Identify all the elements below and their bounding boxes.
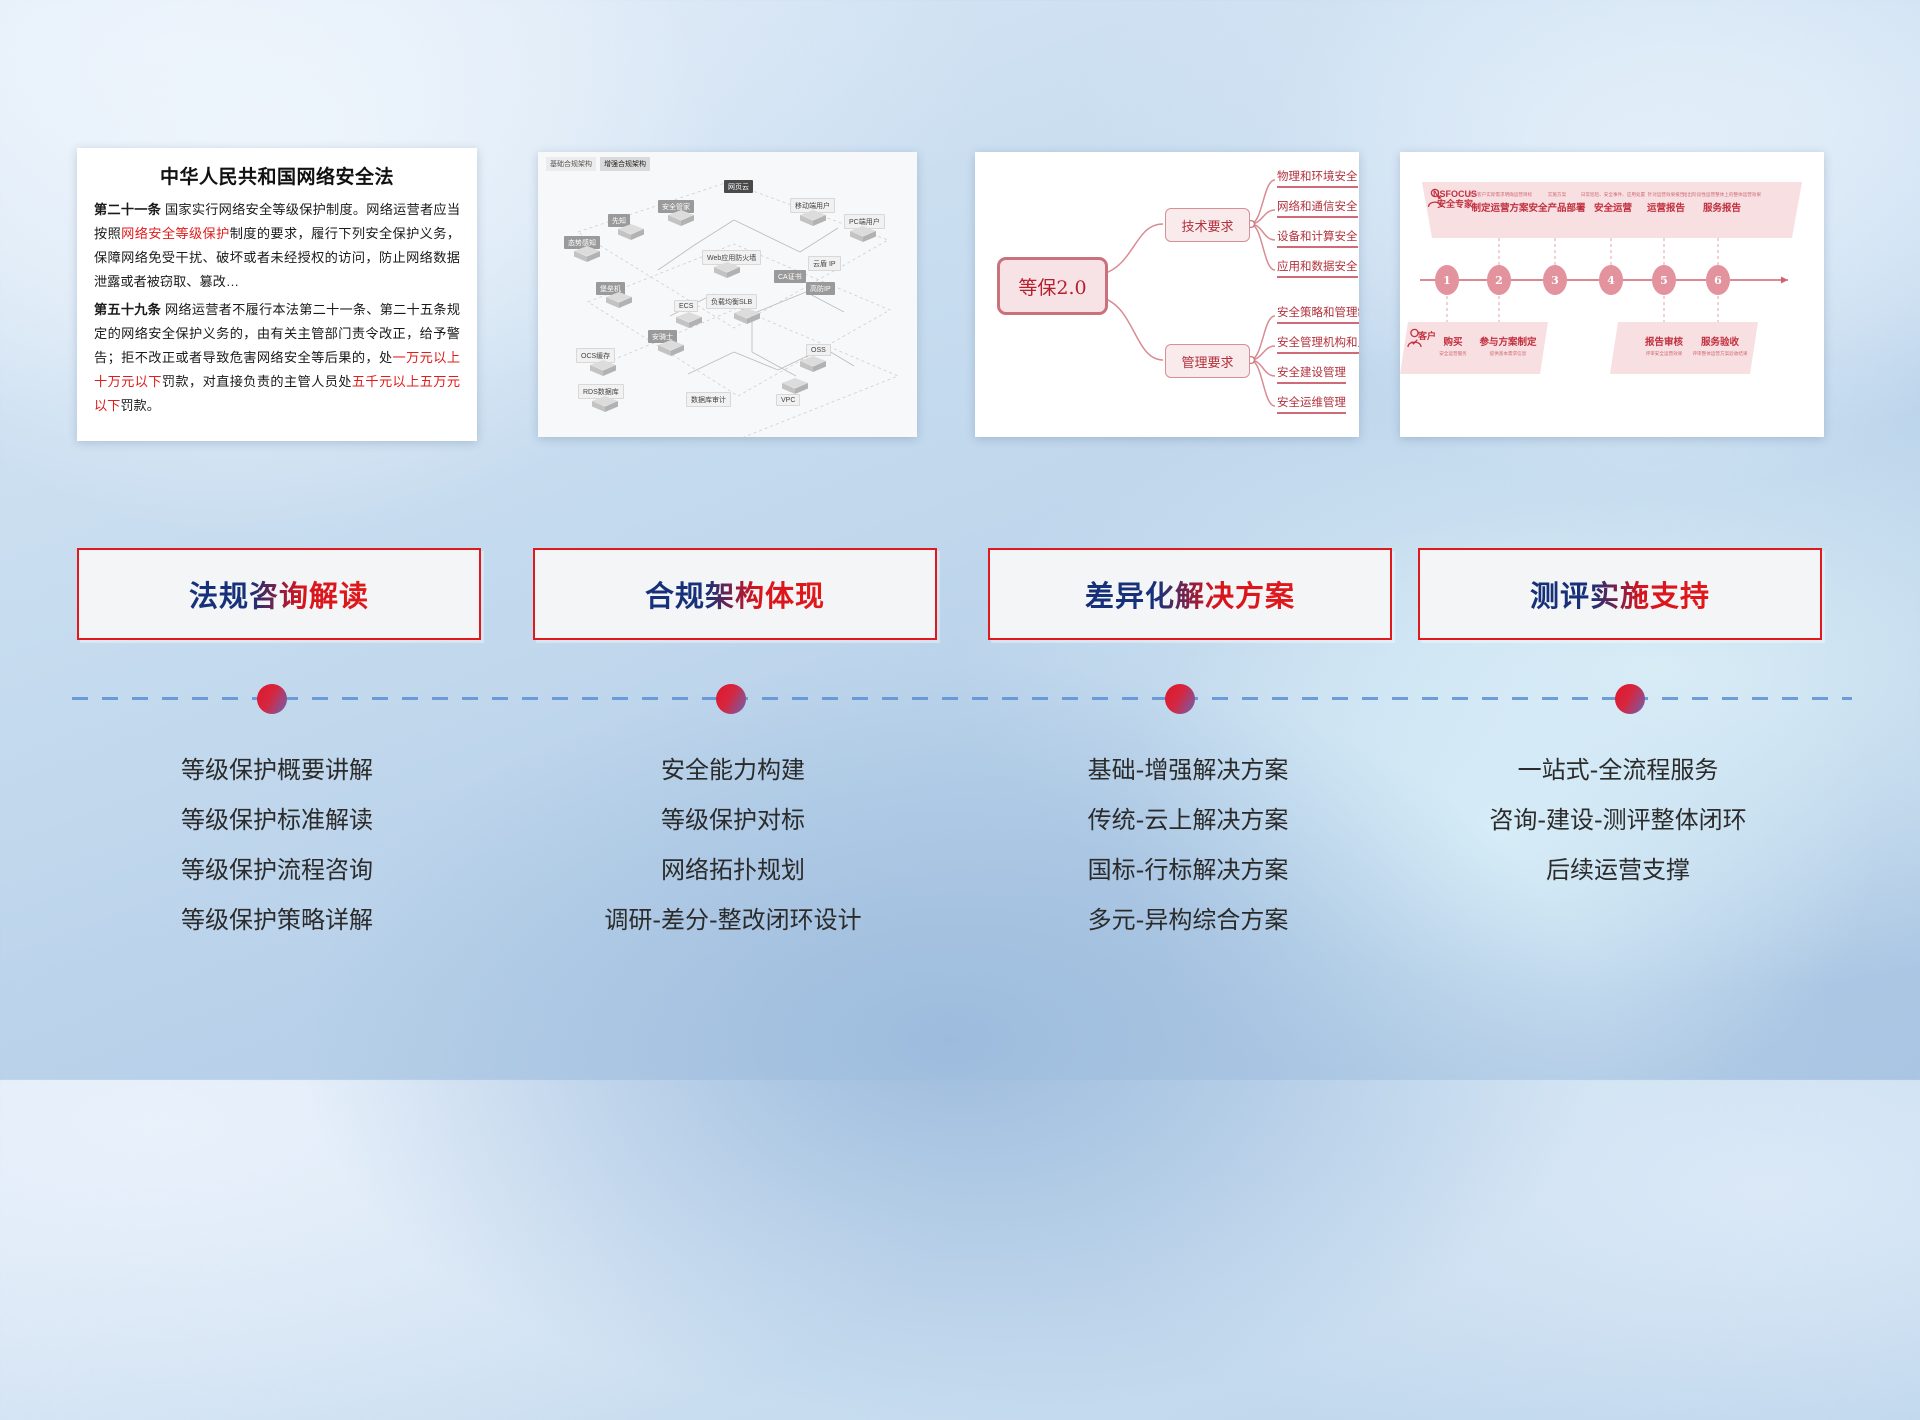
list-item: 多元-异构综合方案 bbox=[988, 895, 1388, 945]
law-title: 中华人民共和国网络安全法 bbox=[94, 162, 460, 189]
mindmap-leaf: 物理和环境安全 bbox=[1277, 168, 1358, 188]
mindmap-leaf: 设备和计算安全 bbox=[1277, 228, 1358, 248]
section-heading-row: 法规咨询解读 合规架构体现 差异化解决方案 测评实施支持 bbox=[0, 548, 1920, 644]
law-seg: 罚款。 bbox=[120, 398, 160, 413]
detail-list-compliance-architecture: 安全能力构建 等级保护对标 网络拓扑规划 调研-差分-整改闭环设计 bbox=[533, 745, 933, 945]
arch-node-ca-cert: CA证书 bbox=[774, 270, 806, 283]
background-glow-bottom bbox=[300, 660, 1600, 1420]
arch-node-oss: OSS bbox=[806, 344, 831, 356]
arch-cube bbox=[676, 312, 702, 332]
section-heading-regulation-consulting[interactable]: 法规咨询解读 bbox=[77, 548, 481, 640]
section-heading-label: 合规架构体现 bbox=[645, 573, 825, 615]
timeline-marker: 6 bbox=[1706, 265, 1730, 295]
arch-cube bbox=[592, 396, 618, 416]
mindmap-leaf: 安全运维管理 bbox=[1277, 394, 1346, 414]
arch-cube bbox=[574, 246, 600, 266]
timeline-bottom-step: 服务验收 评审整体运营方案验收结果 bbox=[1684, 334, 1756, 359]
timeline-marker: 4 bbox=[1599, 265, 1623, 295]
mindmap: 等保2.0 技术要求 物理和环境安全 网络和通信安全 设备和计算安全 应用和数据… bbox=[975, 152, 1359, 437]
timeline-bullet-3[interactable] bbox=[1165, 684, 1195, 714]
service-timeline: NSFOCUS 安全专家 结合客户实际需求明确运营目标 制定运营方案 实施方案 … bbox=[1400, 152, 1824, 437]
list-item: 一站式-全流程服务 bbox=[1418, 745, 1818, 795]
list-item: 调研-差分-整改闭环设计 bbox=[533, 895, 933, 945]
timeline-bottom-step: 参与方案制定 提供基本需求信息 bbox=[1470, 334, 1546, 359]
law-body: 中华人民共和国网络安全法 第二十一条 国家实行网络安全等级保护制度。网络运营者应… bbox=[77, 148, 477, 441]
section-heading-compliance-architecture[interactable]: 合规架构体现 bbox=[533, 548, 937, 640]
arch-cube bbox=[606, 292, 632, 312]
list-item: 后续运营支撑 bbox=[1418, 845, 1818, 895]
section-heading-label: 法规咨询解读 bbox=[189, 573, 369, 615]
arch-cube bbox=[590, 360, 616, 380]
timeline-bullet-1[interactable] bbox=[257, 684, 287, 714]
arch-cube bbox=[658, 340, 684, 360]
arch-cube bbox=[734, 308, 760, 328]
customer-person-icon bbox=[1406, 328, 1423, 348]
mindmap-leaf: 网络和通信安全 bbox=[1277, 198, 1358, 218]
card-compliance-architecture: 基础合规架构 增强合规架构 网页云 bbox=[538, 152, 917, 437]
section-heading-label: 差异化解决方案 bbox=[1085, 573, 1295, 615]
list-item: 等级保护策略详解 bbox=[77, 895, 477, 945]
arch-node-anti-ddos-ip: 高防IP bbox=[806, 282, 835, 295]
mindmap-leaf: 应用和数据安全 bbox=[1277, 258, 1358, 278]
list-item: 等级保护概要讲解 bbox=[77, 745, 477, 795]
mindmap-branch-technical: 技术要求 bbox=[1165, 208, 1250, 242]
timeline-top-step: 给出阶段性运营整体上的整体运营效果 服务报告 bbox=[1678, 192, 1766, 214]
detail-list-assessment-support: 一站式-全流程服务 咨询-建设-测评整体闭环 后续运营支撑 bbox=[1418, 745, 1818, 895]
arch-node-db-audit: 数据库审计 bbox=[686, 392, 731, 407]
arch-cube bbox=[800, 210, 826, 230]
timeline-bullet-4[interactable] bbox=[1615, 684, 1645, 714]
card-service-timeline: NSFOCUS 安全专家 结合客户实际需求明确运营目标 制定运营方案 实施方案 … bbox=[1400, 152, 1824, 437]
law-article-label-21: 第二十一条 bbox=[94, 202, 161, 217]
section-heading-differentiated-solution[interactable]: 差异化解决方案 bbox=[988, 548, 1392, 640]
arch-node-slb: 负载均衡SLB bbox=[706, 294, 757, 309]
architecture-diagram: 基础合规架构 增强合规架构 网页云 bbox=[538, 152, 917, 437]
section-heading-assessment-support[interactable]: 测评实施支持 bbox=[1418, 548, 1822, 640]
timeline-marker: 5 bbox=[1652, 265, 1676, 295]
expert-person-icon bbox=[1426, 188, 1444, 208]
arch-cube bbox=[800, 356, 826, 376]
step-title: 参与方案制定 bbox=[1470, 334, 1546, 348]
list-item: 等级保护标准解读 bbox=[77, 795, 477, 845]
arch-node-cloud-shield-ip: 云盾 IP bbox=[808, 256, 841, 271]
card-dengbao-mindmap: 等保2.0 技术要求 物理和环境安全 网络和通信安全 设备和计算安全 应用和数据… bbox=[975, 152, 1359, 437]
list-item: 安全能力构建 bbox=[533, 745, 933, 795]
list-item: 等级保护对标 bbox=[533, 795, 933, 845]
step-title: 服务验收 bbox=[1684, 334, 1756, 348]
list-item: 网络拓扑规划 bbox=[533, 845, 933, 895]
mindmap-leaf: 安全管理机构和人员 bbox=[1277, 334, 1359, 354]
mindmap-leaf: 安全建设管理 bbox=[1277, 364, 1346, 384]
detail-list-differentiated-solution: 基础-增强解决方案 传统-云上解决方案 国标-行标解决方案 多元-异构综合方案 bbox=[988, 745, 1388, 945]
timeline-marker: 2 bbox=[1487, 265, 1511, 295]
arch-node-webcloud: 网页云 bbox=[724, 180, 753, 193]
timeline-bullet-2[interactable] bbox=[716, 684, 746, 714]
law-paragraph-21: 第二十一条 国家实行网络安全等级保护制度。网络运营者应当按照网络安全等级保护制度… bbox=[94, 198, 460, 294]
step-title: 服务报告 bbox=[1678, 200, 1766, 214]
step-note: 提供基本需求信息 bbox=[1470, 351, 1546, 357]
mindmap-branch-management: 管理要求 bbox=[1165, 344, 1250, 378]
arch-cube bbox=[782, 378, 808, 398]
law-seg: 罚款，对直接负责的主管人员处 bbox=[162, 374, 352, 389]
section-heading-label: 测评实施支持 bbox=[1530, 573, 1710, 615]
arch-cube bbox=[714, 262, 740, 282]
arch-cube bbox=[618, 224, 644, 244]
law-paragraph-59: 第五十九条 网络运营者不履行本法第二十一条、第二十五条规定的网络安全保护义务的，… bbox=[94, 298, 460, 418]
list-item: 国标-行标解决方案 bbox=[988, 845, 1388, 895]
mindmap-root: 等保2.0 bbox=[997, 257, 1108, 315]
mindmap-leaf: 安全策略和管理制度 bbox=[1277, 304, 1359, 324]
step-note: 评审整体运营方案验收结果 bbox=[1684, 351, 1756, 357]
timeline-marker: 1 bbox=[1435, 265, 1459, 295]
law-seg-highlight: 网络安全等级保护 bbox=[121, 226, 230, 241]
law-article-label-59: 第五十九条 bbox=[94, 302, 161, 317]
list-item: 咨询-建设-测评整体闭环 bbox=[1418, 795, 1818, 845]
timeline-rail bbox=[72, 697, 1852, 700]
list-item: 等级保护流程咨询 bbox=[77, 845, 477, 895]
arch-node-ecs: ECS bbox=[674, 300, 698, 312]
list-item: 基础-增强解决方案 bbox=[988, 745, 1388, 795]
card-cybersecurity-law: 中华人民共和国网络安全法 第二十一条 国家实行网络安全等级保护制度。网络运营者应… bbox=[77, 148, 477, 441]
arch-cube bbox=[850, 226, 876, 246]
list-item: 传统-云上解决方案 bbox=[988, 795, 1388, 845]
timeline-marker: 3 bbox=[1543, 265, 1567, 295]
card-row: 中华人民共和国网络安全法 第二十一条 国家实行网络安全等级保护制度。网络运营者应… bbox=[0, 148, 1920, 448]
step-note: 给出阶段性运营整体上的整体运营效果 bbox=[1678, 192, 1766, 198]
arch-cube bbox=[668, 210, 694, 230]
detail-list-regulation-consulting: 等级保护概要讲解 等级保护标准解读 等级保护流程咨询 等级保护策略详解 bbox=[77, 745, 477, 945]
